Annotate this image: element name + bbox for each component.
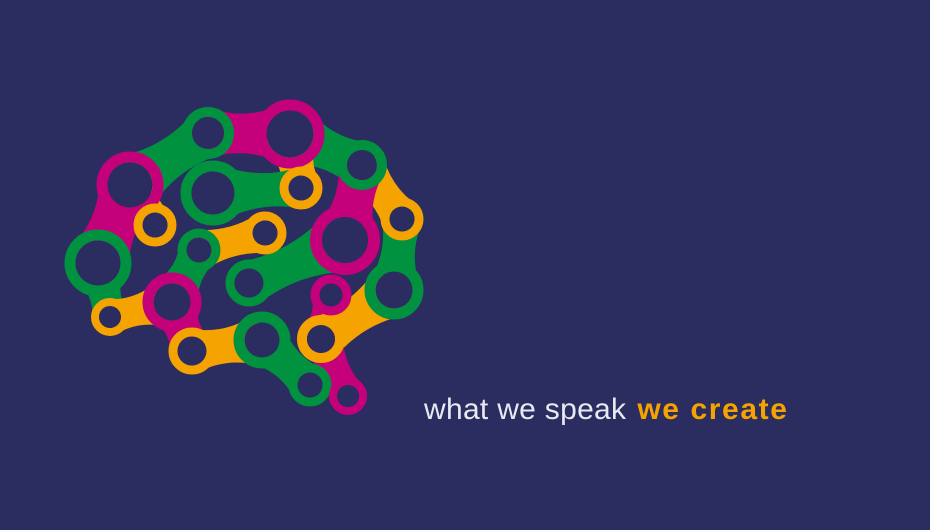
logo-node-hole (337, 385, 359, 407)
logo-node-hole (108, 163, 153, 208)
logo-node-hole (235, 269, 264, 298)
logo-node-hole (289, 176, 314, 201)
tagline: what we speak we create (424, 390, 789, 430)
logo-node-hole (192, 117, 224, 149)
logo-node-hole (298, 373, 323, 398)
logo-node-hole (187, 238, 212, 263)
logo-node-hole (143, 213, 168, 238)
logo-node-hole (178, 337, 207, 366)
logo-node-hole (154, 284, 191, 321)
logo-node-hole (347, 150, 377, 180)
splash-canvas: what we speak we create (0, 0, 930, 530)
logo-node-hole (245, 323, 280, 358)
logo-node-hole (322, 217, 368, 263)
logo-node-hole (390, 207, 415, 232)
logo-node-hole (267, 111, 314, 158)
brain-network-logo (60, 95, 435, 420)
logo-node-hole (99, 306, 121, 328)
logo-node-hole (192, 172, 235, 215)
logo-node-hole (320, 284, 343, 307)
logo-node-hole (307, 325, 335, 353)
tagline-light-text: what we speak (424, 393, 626, 427)
logo-node-hole (253, 221, 278, 246)
tagline-bold-text: we create (637, 393, 788, 427)
logo-node-hole (376, 272, 413, 309)
logo-node-hole (76, 241, 121, 286)
